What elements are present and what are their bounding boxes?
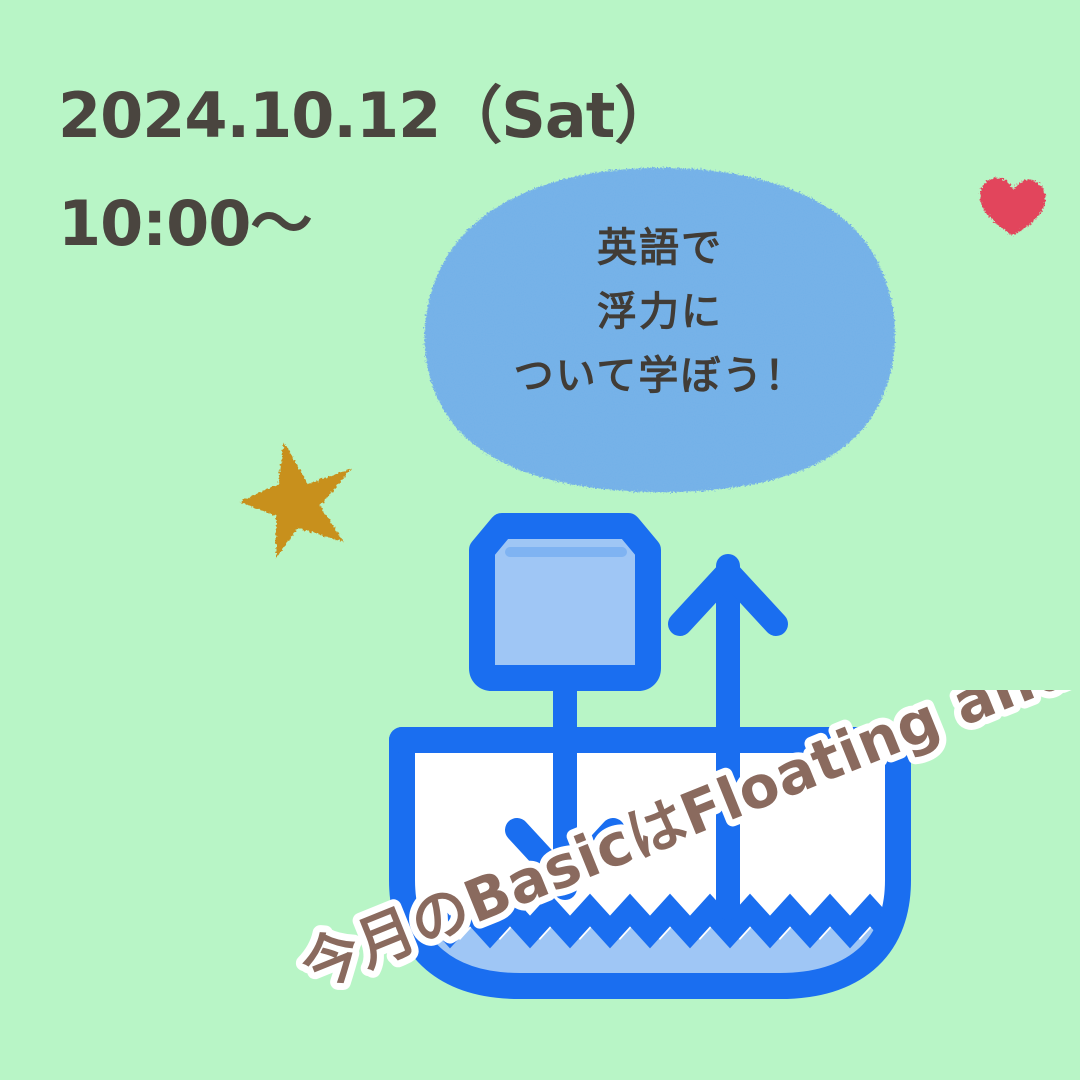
speech-bubble-text: 英語で 浮力に ついて学ぼう！ bbox=[410, 216, 910, 408]
bubble-line-1: 英語で bbox=[410, 216, 910, 280]
bubble-line-3: ついて学ぼう！ bbox=[410, 344, 910, 408]
buoyancy-diagram bbox=[340, 500, 960, 1020]
bubble-line-2: 浮力に bbox=[410, 280, 910, 344]
poster-canvas: 2024.10.12（Sat） 10:00〜 bbox=[0, 0, 1080, 1080]
heart-icon bbox=[968, 158, 1064, 254]
event-date: 2024.10.12（Sat） bbox=[58, 62, 698, 170]
test-block bbox=[482, 526, 648, 678]
speech-bubble: 英語で 浮力に ついて学ぼう！ bbox=[410, 160, 910, 500]
